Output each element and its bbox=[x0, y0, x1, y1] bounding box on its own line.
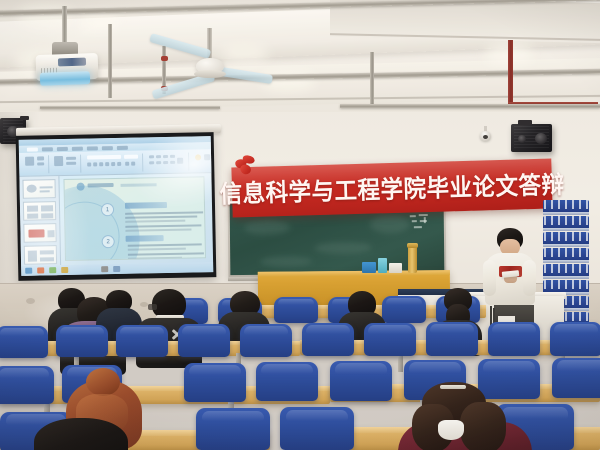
screen-surface: 1 2 3 bbox=[19, 136, 214, 276]
slide-body-line bbox=[128, 248, 186, 251]
ribbon-icon[interactable] bbox=[66, 157, 76, 160]
ribbon-icon[interactable] bbox=[66, 162, 76, 165]
ribbon-group-slides bbox=[51, 155, 81, 174]
font-size-box[interactable] bbox=[124, 155, 138, 159]
indent-icon[interactable] bbox=[163, 155, 168, 158]
ribbon-group-font bbox=[85, 153, 143, 172]
chair[interactable] bbox=[550, 322, 600, 356]
chair[interactable] bbox=[488, 322, 540, 356]
student-hair bbox=[34, 418, 128, 450]
taskbar-icon[interactable] bbox=[113, 266, 120, 272]
ribbon-icon[interactable] bbox=[37, 156, 44, 160]
align-right-icon[interactable] bbox=[163, 161, 168, 164]
podium-surface bbox=[258, 270, 450, 277]
chair[interactable] bbox=[184, 363, 246, 402]
projector-lens bbox=[40, 71, 90, 86]
ppt-tab[interactable] bbox=[87, 146, 98, 150]
student-face-mask bbox=[438, 420, 464, 440]
ppt-tab[interactable] bbox=[57, 146, 68, 150]
shape-icon[interactable] bbox=[195, 154, 201, 160]
chalk-mark bbox=[410, 215, 416, 217]
ppt-tab[interactable] bbox=[102, 146, 113, 150]
seated-student-8 bbox=[436, 300, 476, 310]
align-center-icon[interactable] bbox=[156, 161, 161, 164]
speaker-cone bbox=[535, 133, 547, 144]
event-banner: 信息科学与工程学院毕业论文答辩 bbox=[231, 159, 552, 218]
standing-presenter bbox=[482, 228, 538, 314]
slide-subtitle-text bbox=[121, 183, 157, 187]
chalk-mark bbox=[424, 217, 426, 223]
slide-thumbnail[interactable] bbox=[22, 179, 55, 199]
taskbar-icon[interactable] bbox=[25, 268, 32, 274]
arrange-icon[interactable] bbox=[204, 154, 210, 160]
chair[interactable] bbox=[330, 361, 392, 401]
chair[interactable] bbox=[0, 366, 54, 404]
ribbon-group-drawing bbox=[193, 152, 213, 170]
wall-speaker-right bbox=[511, 124, 552, 152]
outdent-icon[interactable] bbox=[170, 155, 175, 158]
slide-section-header bbox=[126, 235, 164, 242]
italic-icon[interactable] bbox=[93, 162, 97, 166]
slide-thumbnail[interactable] bbox=[23, 201, 56, 221]
foreground-student-left bbox=[34, 418, 128, 450]
ppt-tab[interactable] bbox=[42, 147, 53, 151]
ribbon-icon[interactable] bbox=[25, 157, 34, 166]
chalk-mark bbox=[412, 220, 417, 222]
slide-body-line bbox=[128, 243, 202, 246]
numbering-icon[interactable] bbox=[156, 155, 161, 158]
ppt-tab[interactable] bbox=[117, 145, 128, 149]
ribbon-group-paragraph bbox=[147, 153, 189, 172]
chair[interactable] bbox=[382, 296, 426, 323]
classroom-photo: 1 2 3 bbox=[0, 0, 600, 450]
underline-icon[interactable] bbox=[99, 162, 103, 166]
stacked-chair-unit bbox=[543, 232, 589, 247]
chair[interactable] bbox=[364, 323, 416, 356]
taskbar-icon[interactable] bbox=[101, 266, 108, 272]
brass-thermos bbox=[408, 246, 417, 273]
stacked-chair-unit bbox=[543, 200, 589, 215]
ribbon-icon[interactable] bbox=[37, 162, 44, 165]
slide-thumbnail[interactable] bbox=[23, 223, 56, 243]
active-slide[interactable]: 1 2 3 bbox=[63, 176, 206, 261]
font-color-icon[interactable] bbox=[117, 162, 121, 166]
fan-ring bbox=[194, 70, 226, 78]
ppt-tab[interactable] bbox=[72, 146, 83, 150]
chair[interactable] bbox=[0, 326, 48, 358]
taskbar-icon[interactable] bbox=[61, 267, 68, 273]
student-ponytail-right bbox=[460, 402, 506, 450]
chair[interactable] bbox=[256, 362, 318, 401]
taskbar-icon[interactable] bbox=[49, 267, 56, 273]
stacked-chair-unit bbox=[543, 264, 589, 279]
ceiling bbox=[0, 0, 600, 118]
font-name-box[interactable] bbox=[87, 155, 121, 160]
slide-body-line bbox=[125, 220, 185, 223]
align-left-icon[interactable] bbox=[149, 161, 154, 164]
taskbar-icon[interactable] bbox=[37, 267, 44, 273]
podium-blue-box bbox=[362, 262, 376, 273]
strikethrough-icon[interactable] bbox=[105, 162, 109, 166]
ribbon-icon[interactable] bbox=[54, 156, 63, 166]
speaker-bracket bbox=[20, 116, 29, 120]
student-hair-bun bbox=[86, 368, 120, 396]
columns-icon[interactable] bbox=[177, 158, 183, 164]
justify-icon[interactable] bbox=[170, 161, 175, 164]
wall-rail bbox=[40, 106, 220, 109]
slide-body-line bbox=[125, 211, 203, 214]
ppt-tab[interactable] bbox=[27, 147, 38, 151]
chair[interactable] bbox=[302, 323, 354, 356]
chair[interactable] bbox=[178, 324, 230, 357]
bold-icon[interactable] bbox=[87, 162, 91, 166]
podium-teal-bottle bbox=[378, 258, 387, 273]
chair[interactable] bbox=[56, 325, 108, 357]
chair[interactable] bbox=[196, 408, 270, 450]
conduit-pipe bbox=[108, 24, 112, 98]
slide-thumbnail-panel[interactable] bbox=[19, 176, 61, 266]
chair[interactable] bbox=[116, 325, 168, 357]
chair[interactable] bbox=[552, 358, 600, 398]
slide-body-line bbox=[128, 257, 182, 260]
thermos-cap bbox=[407, 243, 418, 248]
chair[interactable] bbox=[240, 324, 292, 357]
speaker-bracket bbox=[518, 120, 532, 125]
slide-body-line bbox=[128, 252, 204, 255]
projection-screen: 1 2 3 bbox=[16, 132, 217, 281]
chair[interactable] bbox=[280, 407, 354, 450]
slide-title-text bbox=[88, 183, 114, 187]
camera-lens bbox=[483, 135, 488, 139]
char-spacing-icon[interactable] bbox=[125, 162, 129, 166]
ppt-ribbon[interactable] bbox=[19, 149, 211, 177]
presenter-arm-right bbox=[523, 260, 536, 296]
conduit-pipe bbox=[370, 52, 374, 104]
speaker-tweeter bbox=[518, 135, 526, 143]
podium-white-box bbox=[389, 263, 402, 273]
slide-section-header bbox=[125, 202, 167, 209]
change-case-icon[interactable] bbox=[131, 162, 135, 166]
ribbon-group-clipboard bbox=[23, 155, 49, 173]
stacked-chair-unit bbox=[543, 248, 589, 263]
student-glasses-temple bbox=[148, 304, 157, 310]
foreground-student-maroon bbox=[398, 382, 532, 450]
chair[interactable] bbox=[426, 322, 478, 356]
wall-rail bbox=[340, 104, 600, 108]
chalk-mark bbox=[414, 226, 422, 228]
student-hairtie bbox=[440, 385, 466, 389]
projector-panel bbox=[58, 58, 86, 67]
presenter-arm-left bbox=[483, 260, 496, 296]
bullets-icon[interactable] bbox=[149, 155, 154, 158]
slide-body-line bbox=[125, 224, 201, 227]
slide-thumbnail[interactable] bbox=[24, 245, 57, 265]
shadow-icon[interactable] bbox=[111, 162, 115, 166]
sunlight-patch bbox=[78, 14, 118, 30]
fan-rod-cap bbox=[161, 56, 168, 61]
chalk-mark bbox=[419, 214, 428, 216]
chair[interactable] bbox=[274, 297, 318, 323]
sunlight-patch bbox=[222, 46, 268, 62]
slide-body-line bbox=[125, 229, 191, 232]
red-pipe bbox=[508, 40, 513, 106]
slide-body-line bbox=[125, 215, 197, 218]
stacked-chair-unit bbox=[543, 216, 589, 231]
